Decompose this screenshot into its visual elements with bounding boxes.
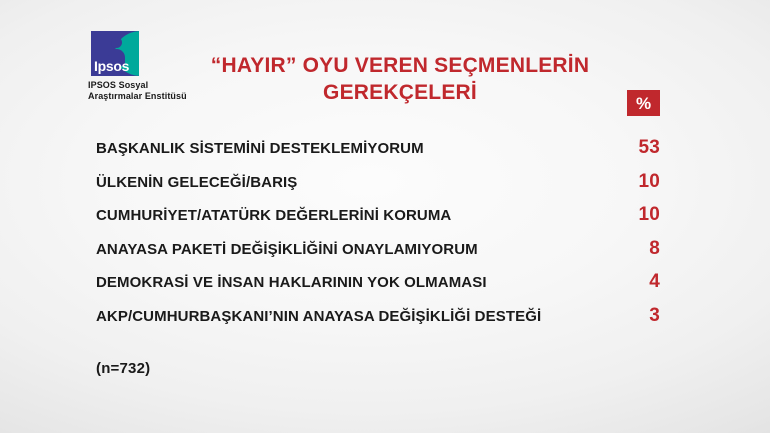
row-value: 4 <box>626 271 660 293</box>
row-label: CUMHURİYET/ATATÜRK DEĞERLERİNİ KORUMA <box>96 207 626 224</box>
page-title-line-1: “HAYIR” OYU VEREN SEÇMENLERİN <box>190 52 610 79</box>
table-row: ÜLKENİN GELECEĞİ/BARIŞ 10 <box>96 171 660 205</box>
row-value: 10 <box>626 171 660 193</box>
table-row: ANAYASA PAKETİ DEĞİŞİKLİĞİNİ ONAYLAMIYOR… <box>96 238 660 272</box>
table-row: CUMHURİYET/ATATÜRK DEĞERLERİNİ KORUMA 10 <box>96 204 660 238</box>
percent-column-header-badge: % <box>627 90 660 116</box>
infographic-slide: Ipsos IPSOS Sosyal Araştırmalar Enstitüs… <box>0 0 770 433</box>
page-title-line-2: GEREKÇELERİ <box>190 79 610 106</box>
percent-symbol: % <box>636 95 651 112</box>
row-value: 10 <box>626 204 660 226</box>
table-row: AKP/CUMHURBAŞKANI’NIN ANAYASA DEĞİŞİKLİĞ… <box>96 305 660 339</box>
table-row: BAŞKANLIK SİSTEMİNİ DESTEKLEMİYORUM 53 <box>96 137 660 171</box>
results-list: BAŞKANLIK SİSTEMİNİ DESTEKLEMİYORUM 53 Ü… <box>96 137 660 338</box>
page-title: “HAYIR” OYU VEREN SEÇMENLERİN GEREKÇELER… <box>190 52 610 106</box>
logo-wordmark: Ipsos <box>94 59 129 73</box>
row-value: 8 <box>626 238 660 260</box>
ipsos-logo-icon: Ipsos <box>91 31 139 76</box>
sample-size-note: (n=732) <box>96 360 150 377</box>
logo-figure-head-shape <box>111 37 122 48</box>
row-value: 3 <box>626 305 660 327</box>
row-value: 53 <box>626 137 660 159</box>
row-label: DEMOKRASİ VE İNSAN HAKLARININ YOK OLMAMA… <box>96 274 626 291</box>
table-row: DEMOKRASİ VE İNSAN HAKLARININ YOK OLMAMA… <box>96 271 660 305</box>
row-label: AKP/CUMHURBAŞKANI’NIN ANAYASA DEĞİŞİKLİĞ… <box>96 308 626 325</box>
row-label: ANAYASA PAKETİ DEĞİŞİKLİĞİNİ ONAYLAMIYOR… <box>96 241 626 258</box>
row-label: BAŞKANLIK SİSTEMİNİ DESTEKLEMİYORUM <box>96 140 626 157</box>
row-label: ÜLKENİN GELECEĞİ/BARIŞ <box>96 174 626 191</box>
